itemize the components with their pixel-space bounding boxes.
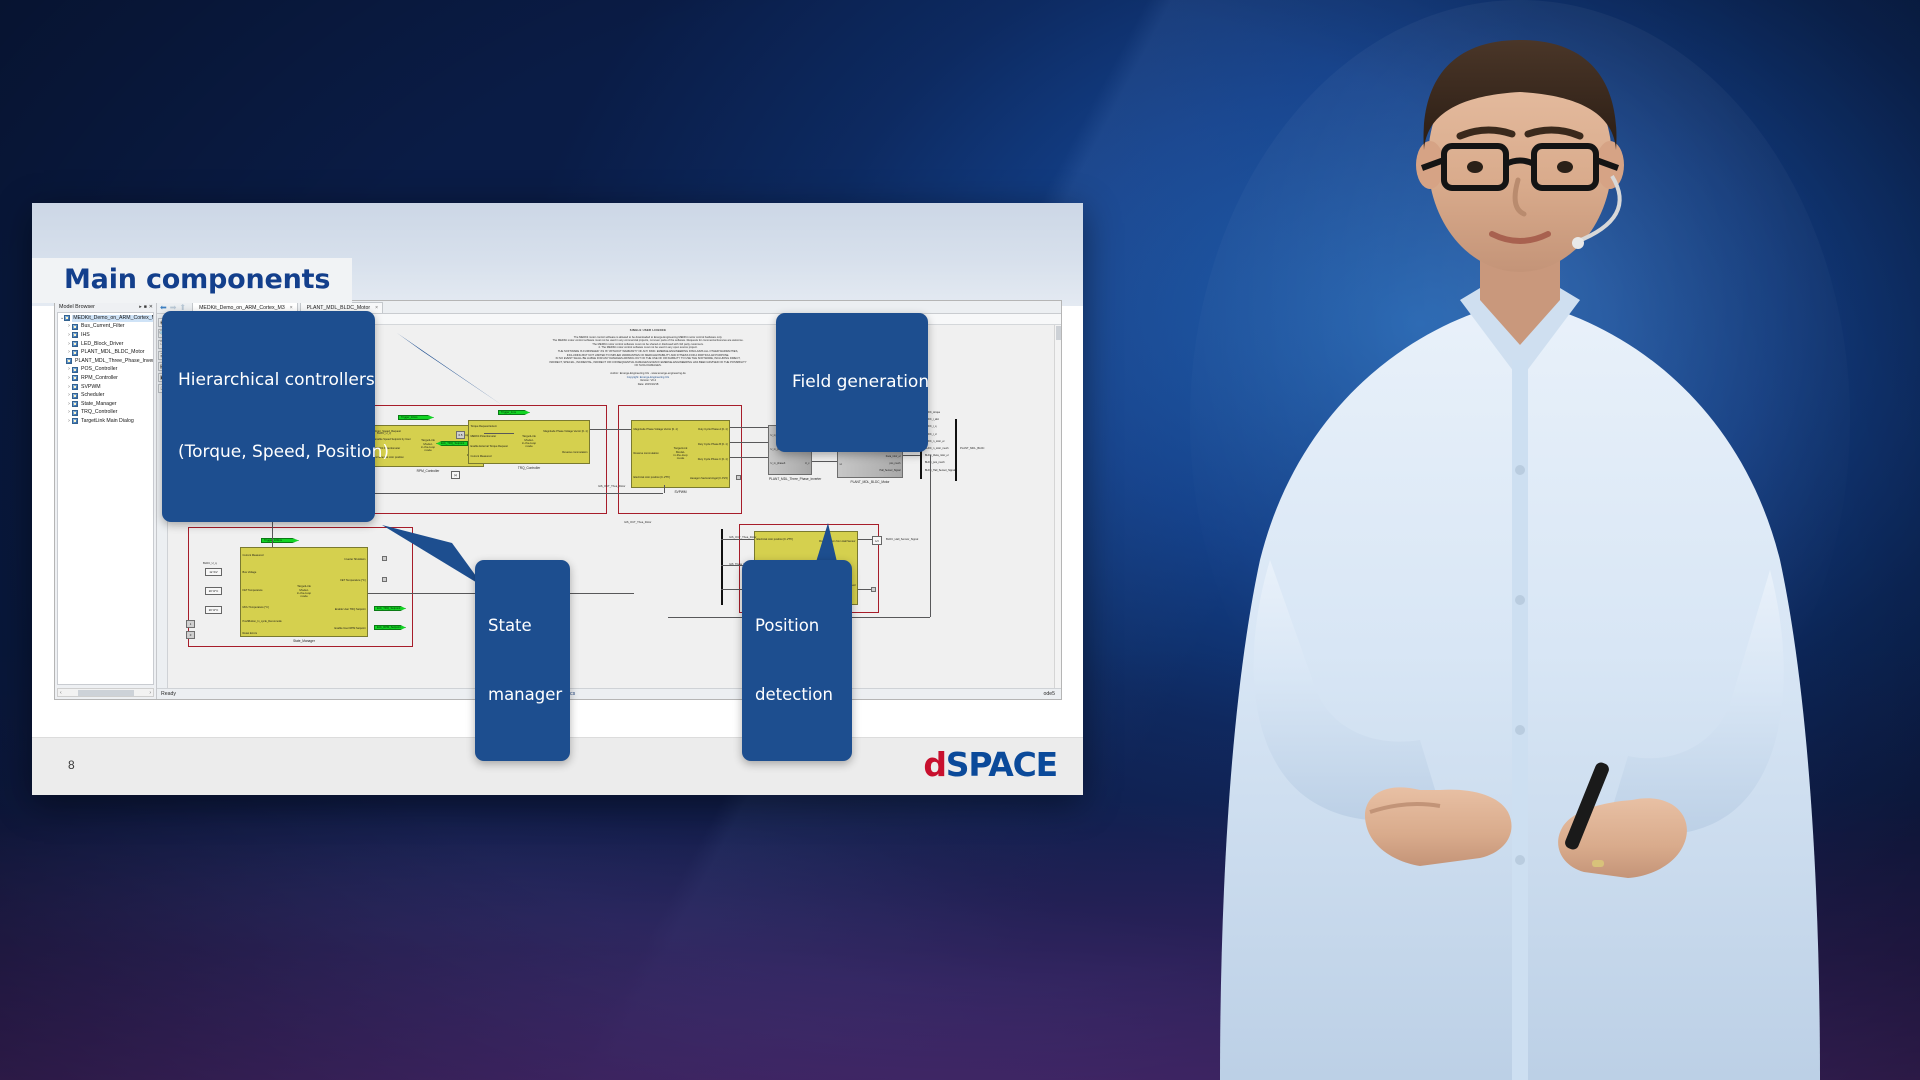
bus-signal-label: BLDC_n_rotor_mech bbox=[925, 447, 948, 450]
port-out-fet-temperature: FET Temperature [°C] bbox=[340, 579, 365, 582]
bldc-uq-label: BLDC_U_q bbox=[377, 432, 405, 436]
license-annotation: SINGLE USER LICENCE The MEDKit motor con… bbox=[468, 329, 828, 386]
dspace-logo: dSPACE bbox=[923, 745, 1057, 784]
presenter-ring bbox=[1592, 860, 1604, 867]
const-label: 12 %V bbox=[209, 570, 217, 574]
logo-text-space: SPACE bbox=[946, 745, 1057, 784]
back-arrow-icon[interactable]: ⬅ bbox=[160, 304, 167, 312]
port-in-bus-voltage: Bus Voltage bbox=[243, 571, 257, 574]
signal-label: Enb_TRQ_Setpoint bbox=[377, 607, 400, 610]
port-out-enable-user-rpm: Enable User RPM Setpoint bbox=[335, 627, 366, 630]
shirt-button bbox=[1515, 855, 1525, 865]
const-zero-2[interactable]: 0 bbox=[186, 631, 195, 639]
presenter-figure bbox=[1120, 0, 1920, 1080]
port-out-theta-rotor-el: theta_rotor_el bbox=[886, 455, 901, 458]
model-icon bbox=[64, 315, 70, 321]
scroll-thumb[interactable] bbox=[78, 690, 134, 696]
callout-position-detection: Position detection bbox=[742, 560, 852, 761]
tree-item-label: Bus_Current_Filter bbox=[80, 323, 126, 330]
tree-item-label: RPM_Controller bbox=[80, 375, 119, 382]
trigger-1ms-trq: Trigger_1ms bbox=[498, 410, 530, 415]
port-in-medkit-potentiometer: MEDKit Potentiometer bbox=[471, 435, 497, 438]
presenter-eye-right bbox=[1557, 161, 1573, 173]
tree-item-state-manager[interactable]: ›State_Manager bbox=[58, 400, 153, 409]
port-in-magnitude-phase-voltage: Magnitude Phase Voltage Vector [0..1] bbox=[634, 428, 678, 431]
port-in-current-measured: Current Measured bbox=[243, 554, 264, 557]
port-in-current-measured: Current Measured bbox=[471, 455, 492, 458]
close-icon[interactable]: × bbox=[375, 305, 378, 311]
tree-item-bus-current-filter[interactable]: ›Bus_Current_Filter bbox=[58, 323, 153, 332]
port-out-duty-cycle-b: Duty Cycle Phase B [0..1] bbox=[698, 443, 728, 446]
enb-trq-setpoint-signal: Enb_TRQ_Setpoint bbox=[436, 441, 468, 446]
wire bbox=[930, 455, 931, 617]
tree-item-label: SVPWM bbox=[80, 384, 102, 391]
const-one[interactable]: 1 bbox=[186, 620, 195, 628]
tree-item-plant-mdl-bldc-motor[interactable]: ›PLANT_MDL_BLDC_Motor bbox=[58, 348, 153, 357]
port-in-vc: vc bbox=[840, 463, 843, 466]
tree-item-pos-controller[interactable]: ›POS_Controller bbox=[58, 366, 153, 375]
callout-state-manager: State manager bbox=[475, 560, 570, 761]
status-solver: ode5 bbox=[953, 691, 1062, 697]
model-icon bbox=[72, 332, 78, 338]
port-in-electrical-rotor-position: Electrical rotor position [0..2*PI] bbox=[634, 476, 670, 479]
tree-item-plant-mdl-three-phase-inverter[interactable]: PLANT_MDL_Three_Phase_Inverter bbox=[58, 357, 153, 366]
port-out-u-c: U_c bbox=[805, 462, 809, 465]
model-icon bbox=[72, 401, 78, 407]
pin-icon[interactable]: ■ bbox=[144, 304, 147, 310]
trigger-100ms-state: Trigger_100ms bbox=[261, 538, 299, 543]
svpwm-block[interactable]: TargetLinkModel-in-the-loopmode Magnitud… bbox=[631, 420, 730, 488]
trigger-label: Trigger_1ms bbox=[501, 411, 516, 414]
model-icon bbox=[72, 410, 78, 416]
wire bbox=[721, 539, 754, 540]
port-out-inverter-shutdown: Inverter Shutdown bbox=[344, 558, 365, 561]
const-label: 20 %°C bbox=[209, 608, 219, 612]
model-icon bbox=[72, 324, 78, 330]
tree-item-label: IHS bbox=[80, 332, 91, 339]
plant-mdl-bldc-label: PLANT_MDL_BLDC bbox=[960, 447, 1020, 451]
ihs-out-theta-label-2: IHS_OUT_Thea_Rotor bbox=[598, 485, 644, 489]
tree-item-targetlink-main-dialog[interactable]: ›TargetLink Main Dialog bbox=[58, 417, 153, 426]
license-lines: The MEDKit motor control software is all… bbox=[468, 336, 828, 368]
model-icon bbox=[66, 358, 72, 364]
bus-signal-label: BLDC_pos_mech bbox=[925, 461, 945, 464]
port-in-reverse-commutation: Reverse commutation bbox=[634, 452, 659, 455]
wire bbox=[812, 461, 837, 462]
close-icon[interactable]: ✕ bbox=[149, 304, 153, 310]
tree-item-label: TRQ_Controller bbox=[80, 409, 118, 416]
shirt-button bbox=[1515, 465, 1525, 475]
tree-item-trq-controller[interactable]: ›TRQ_Controller bbox=[58, 409, 153, 418]
model-browser-title: Model Browser bbox=[59, 304, 137, 310]
block-name: State_Manager bbox=[241, 639, 367, 643]
port-out-hall-sensor-signal: Hall_Sensor_Signal bbox=[880, 469, 901, 472]
tree-item-medkit-demo-on-arm-cortex-m3[interactable]: ⌄MEDKit_Demo_on_ARM_Cortex_M3 bbox=[58, 314, 153, 323]
license-heading: SINGLE USER LICENCE bbox=[468, 329, 828, 333]
tree-item-rpm-controller[interactable]: ›RPM_Controller bbox=[58, 374, 153, 383]
block-name: PLANT_MDL_BLDC_Motor bbox=[838, 480, 902, 484]
bus-bar-output bbox=[955, 419, 957, 481]
model-icon bbox=[72, 393, 78, 399]
wire bbox=[730, 427, 768, 428]
port-in-enable-speed-setpoint: Enable Speed Setpoint by User bbox=[375, 438, 411, 441]
wire bbox=[858, 539, 872, 540]
bldc-hall-label: BLDC_Hall_Sensor_Signal bbox=[886, 538, 930, 542]
port-in-reset-errors: Reset Errors bbox=[243, 632, 258, 635]
tree-item-label: LED_Block_Driver bbox=[80, 341, 124, 348]
tree-item-ihs[interactable]: ›IHS bbox=[58, 331, 153, 340]
trigger-label: Trigger_10ms bbox=[401, 416, 417, 419]
browser-horizontal-scrollbar[interactable]: ‹ › bbox=[57, 688, 154, 697]
const-label: 20 %°C bbox=[209, 589, 219, 593]
constant-trq[interactable]: 0.5 bbox=[456, 431, 465, 439]
callout-line-1: Position bbox=[755, 614, 839, 637]
unit-delay-ihs[interactable]: 1/z bbox=[872, 536, 882, 545]
model-icon bbox=[72, 367, 78, 373]
presenter-video bbox=[1120, 0, 1920, 1080]
model-icon bbox=[72, 375, 78, 381]
logo-letter-d: d bbox=[923, 745, 945, 784]
model-icon bbox=[72, 341, 78, 347]
wire bbox=[590, 429, 631, 430]
targetlink-mode-label: TargetLinkModel-in-the-loopmode bbox=[297, 585, 311, 598]
presentation-slide: Main components Model Browser ▸ ■ ✕ ⌄MED… bbox=[32, 203, 1083, 795]
wire bbox=[664, 485, 665, 493]
trigger-10ms-rpm: Trigger_10ms bbox=[398, 415, 434, 420]
abs-block[interactable]: |u| bbox=[451, 471, 460, 479]
screen: Main components Model Browser ▸ ■ ✕ ⌄MED… bbox=[0, 0, 1920, 1080]
callout-field-generation: Field generation bbox=[776, 313, 928, 452]
tree-item-label: MEDKit_Demo_on_ARM_Cortex_M3 bbox=[72, 315, 154, 322]
wire bbox=[903, 455, 920, 456]
port-in-fet-temperature: FET Temperature bbox=[243, 589, 263, 592]
port-in-u-phase3: U_in_phase3 bbox=[771, 462, 786, 465]
wire bbox=[484, 433, 514, 434]
trq-controller-block[interactable]: TargetLinkModel-in-the-loopmode Torque R… bbox=[468, 420, 590, 464]
ihs-out-theta-label-3: IHS_OUT_Thea_Rotor bbox=[624, 521, 670, 525]
state-manager-block[interactable]: TargetLinkModel-in-the-loopmode Current … bbox=[240, 547, 368, 637]
tree-item-svpwm[interactable]: ›SVPWM bbox=[58, 383, 153, 392]
bldc-current-label: BLDC_U_q bbox=[203, 562, 231, 566]
callout-line-2: manager bbox=[488, 683, 557, 706]
const-fet-temp[interactable]: 20 %°C bbox=[205, 587, 222, 595]
port-in-pushbutton-demomode: PushButton_In_cycle_Demomode bbox=[243, 620, 282, 623]
wire bbox=[730, 457, 768, 458]
bus-bar-ihs-input bbox=[721, 529, 723, 605]
scroll-right-icon[interactable]: › bbox=[147, 690, 153, 696]
tree-item-label: POS_Controller bbox=[80, 366, 118, 373]
scroll-left-icon[interactable]: ‹ bbox=[58, 690, 64, 696]
port-out-enable-user-trq: Enable User TRQ Setpoint bbox=[335, 608, 366, 611]
port-out-pos-mech: pos_mech bbox=[889, 462, 900, 465]
wire bbox=[730, 442, 768, 443]
license-date: Date: 2015/10/18 bbox=[468, 383, 828, 387]
page-number: 8 bbox=[68, 758, 75, 772]
wire bbox=[858, 589, 871, 590]
block-name: RPM_Controller bbox=[373, 469, 483, 473]
license-line: OF SUCH DAMAGES. bbox=[468, 364, 828, 368]
tree-item-scheduler[interactable]: ›Scheduler bbox=[58, 391, 153, 400]
trigger-label: Trigger_100ms bbox=[264, 539, 282, 542]
callout-line-2: (Torque, Speed, Position) bbox=[178, 440, 359, 464]
slide-title-container: Main components bbox=[32, 258, 352, 303]
model-icon bbox=[72, 384, 78, 390]
targetlink-mode-label: TargetLinkModel-in-the-loopmode bbox=[421, 439, 435, 452]
targetlink-mode-label: TargetLinkModel-in-the-loopmode bbox=[673, 447, 687, 460]
tree-item-label: PLANT_MDL_BLDC_Motor bbox=[80, 349, 145, 356]
signal-label: Enb_TRQ_Setpoint bbox=[441, 442, 464, 445]
dropdown-icon[interactable]: ▸ bbox=[139, 304, 142, 310]
out-enb-rpm-setpoint: Enb_RPM_Setpoint bbox=[374, 625, 406, 630]
signal-label: Enb_RPM_Setpoint bbox=[377, 626, 401, 629]
tree-item-label: PLANT_MDL_Three_Phase_Inverter bbox=[74, 358, 154, 365]
port-out-hexagon-sectoral-angel: Hexagon Sectoral Angel [0..PI/3] bbox=[690, 477, 728, 480]
bus-signal-label: BLDC_theta_rotor_el bbox=[925, 454, 949, 457]
callout-line-1: State bbox=[488, 614, 557, 637]
port-in-torque-request-extern: Torque Request Extern bbox=[471, 425, 498, 428]
canvas-vertical-scrollbar[interactable] bbox=[1054, 325, 1061, 688]
model-icon bbox=[72, 350, 78, 356]
callout-line-1: Hierarchical controllers bbox=[178, 368, 359, 392]
block-name: TRQ_Controller bbox=[469, 466, 589, 470]
port-out-magnitude-phase-voltage: Magnitude Phase Voltage Vector [0..1] bbox=[543, 430, 587, 433]
out-enb-trq-setpoint: Enb_TRQ_Setpoint bbox=[374, 606, 406, 611]
const-bus-voltage[interactable]: 12 %V bbox=[205, 568, 222, 576]
callout-line-1: Field generation bbox=[792, 370, 912, 394]
scroll-thumb[interactable] bbox=[1056, 326, 1061, 340]
tree-item-led-block-driver[interactable]: ›LED_Block_Driver bbox=[58, 340, 153, 349]
port-out-duty-cycle-c: Duty Cycle Phase C [0..1] bbox=[698, 458, 728, 461]
tree-item-label: State_Manager bbox=[80, 401, 117, 408]
page-title: Main components bbox=[64, 264, 330, 295]
block-name: PLANT_MDL_Three_Phase_Inverter bbox=[769, 477, 811, 481]
terminator-hexagon[interactable] bbox=[736, 475, 741, 480]
model-icon bbox=[72, 418, 78, 424]
callout-line-2: detection bbox=[755, 683, 839, 706]
const-mcu-temp[interactable]: 20 %°C bbox=[205, 606, 222, 614]
shirt-button bbox=[1515, 595, 1525, 605]
view-diagnostics-link[interactable]: View diagnostics bbox=[537, 691, 772, 697]
presenter-eye-left bbox=[1467, 161, 1483, 173]
port-in-mcu-temperature: MCU Temperature [°C] bbox=[243, 606, 269, 609]
simulink-status-bar: Ready View diagnostics 73% ode5 bbox=[157, 688, 1061, 699]
model-browser-panel: Model Browser ▸ ■ ✕ ⌄MEDKit_Demo_on_ARM_… bbox=[55, 301, 157, 699]
targetlink-mode-label: TargetLinkModel-in-the-loopmode bbox=[522, 435, 536, 448]
port-in-enable-external-torque: Enable External Torque Request bbox=[471, 445, 508, 448]
model-tree[interactable]: ⌄MEDKit_Demo_on_ARM_Cortex_M3›Bus_Curren… bbox=[57, 312, 154, 685]
port-out-reverse-commutation: Reverse commutation bbox=[562, 451, 587, 454]
port-out-duty-cycle-a: Duty Cycle Phase A [0..1] bbox=[698, 428, 727, 431]
tree-item-label: TargetLink Main Dialog bbox=[80, 418, 135, 425]
headset-mic-capsule bbox=[1572, 237, 1584, 249]
callout-hierarchical-controllers: Hierarchical controllers (Torque, Speed,… bbox=[162, 311, 375, 522]
terminator-rotor-speed[interactable] bbox=[871, 587, 876, 592]
tree-item-label: Scheduler bbox=[80, 392, 105, 399]
shirt-button bbox=[1515, 725, 1525, 735]
